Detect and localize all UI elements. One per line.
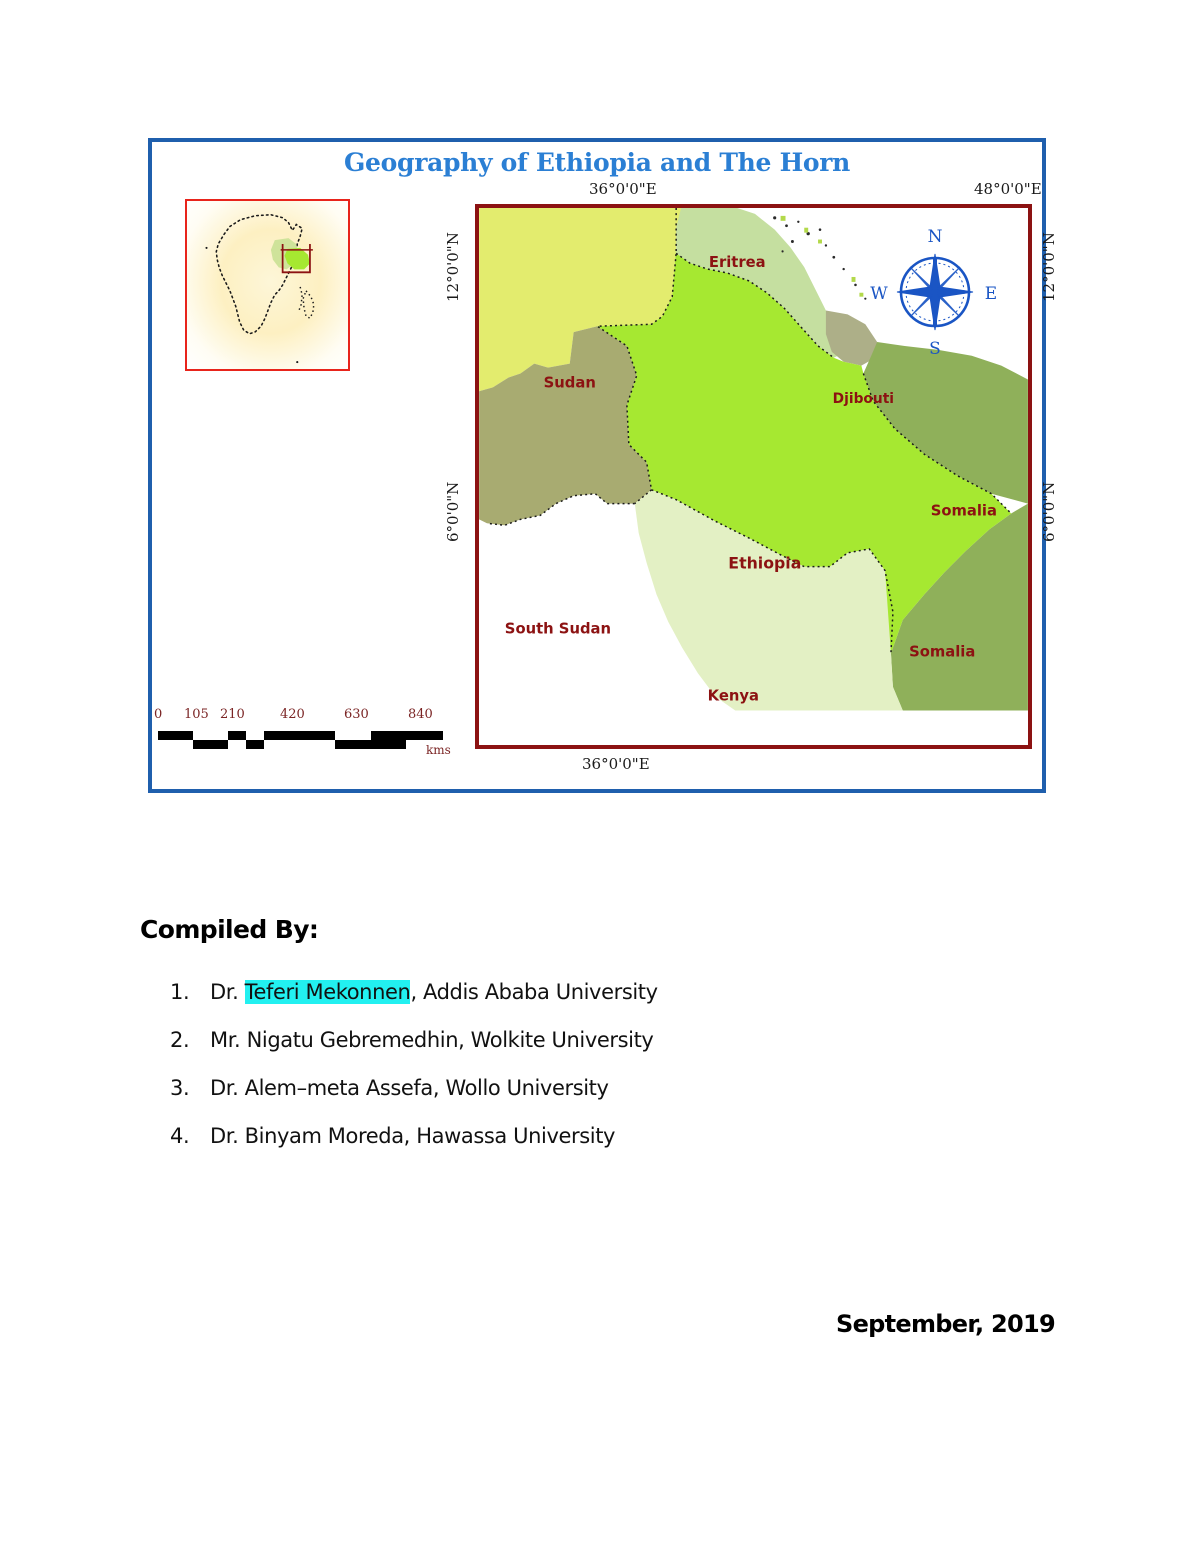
country-label-ethiopia: Ethiopia [728,554,801,573]
list-item: 4.Dr. Binyam Moreda, Hawassa University [170,1112,970,1160]
compass-label-west: W [870,284,888,304]
africa-outline [216,215,302,334]
scale-tick-630: 630 [344,707,369,722]
author-list: 1.Dr. Teferi Mekonnen, Addis Ababa Unive… [170,968,970,1160]
scale-bar-graphic [158,731,443,753]
scale-tick-105: 105 [184,707,209,722]
author-full-text: Mr. Nigatu Gebremedhin, Wolkite Universi… [210,1028,653,1052]
author-full-text: Dr. Alem–meta Assefa, Wollo University [210,1076,609,1100]
country-label-somalia-south: Somalia [909,643,975,660]
lat-label-right-bottom: 6°0'0"N [1040,482,1058,542]
lat-label-left-bottom: 6°0'0"N [444,482,462,542]
map-title: Geography of Ethiopia and The Horn [152,148,1042,177]
compass-rose: N S W E [870,220,1000,360]
lon-label-top-left: 36°0'0"E [589,180,657,198]
lon-label-bottom: 36°0'0"E [582,755,650,773]
scale-tick-420: 420 [280,707,305,722]
country-label-kenya: Kenya [708,688,759,705]
scale-tick-0: 0 [154,707,162,722]
scale-tick-210: 210 [220,707,245,722]
list-item: 1.Dr. Teferi Mekonnen, Addis Ababa Unive… [170,968,970,1016]
madagascar-outline [303,291,314,318]
compass-label-north: N [928,227,943,247]
document-date: September, 2019 [836,1310,1055,1338]
list-item-number: 3. [170,1064,210,1112]
list-item-number: 1. [170,968,210,1016]
scale-bar-unit: kms [426,743,451,757]
list-item-number: 2. [170,1016,210,1064]
country-label-somalia-north: Somalia [931,502,997,519]
africa-locator-inset [185,199,350,371]
map-figure: Geography of Ethiopia and The Horn [148,138,1046,793]
africa-speck-south [296,361,298,363]
author-full-text: Dr. Binyam Moreda, Hawassa University [210,1124,615,1148]
list-item: 3.Dr. Alem–meta Assefa, Wollo University [170,1064,970,1112]
country-label-eritrea: Eritrea [709,254,766,271]
author-affiliation: , Addis Ababa University [410,980,657,1004]
compiled-by-heading: Compiled By: [140,915,318,944]
author-name-highlighted: Teferi Mekonnen [245,980,411,1004]
lat-label-left-top: 12°0'0"N [444,232,462,302]
compass-label-south: S [929,339,941,359]
lat-label-right-top: 12°0'0"N [1040,232,1058,302]
country-label-south-sudan: South Sudan [505,621,611,638]
africa-speck-west [205,247,207,249]
list-item-number: 4. [170,1112,210,1160]
scale-tick-840: 840 [408,707,433,722]
country-label-djibouti: Djibouti [833,391,894,407]
horn-coast-dots [298,287,302,312]
compass-label-east: E [985,284,997,304]
list-item: 2.Mr. Nigatu Gebremedhin, Wolkite Univer… [170,1016,970,1064]
scale-bar: 0 105 210 420 630 840 kms [152,707,462,767]
author-prefix: Dr. [210,980,245,1004]
scale-bar-ticks: 0 105 210 420 630 840 [152,707,462,727]
country-label-sudan: Sudan [544,374,596,391]
lon-label-top-right: 48°0'0"E [974,180,1042,198]
